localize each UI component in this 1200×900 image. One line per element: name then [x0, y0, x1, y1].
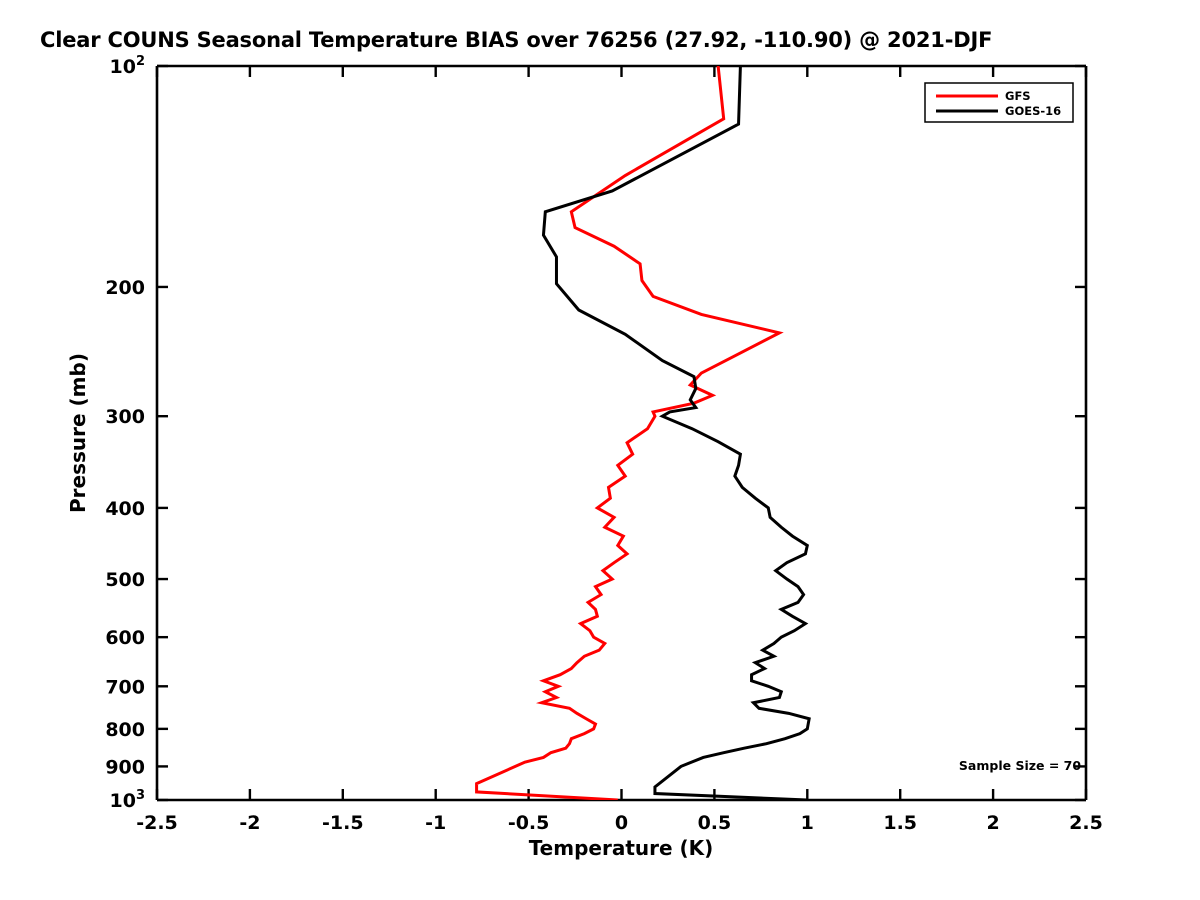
y-tick-label: 102: [110, 54, 146, 78]
legend-entry-gfs: GFS: [1005, 89, 1031, 103]
x-tick-label: 0: [615, 812, 628, 834]
axis-tick-labels: -2.5-2-1.5-1-0.500.511.522.5102200300400…: [105, 54, 1103, 834]
y-tick-label: 600: [105, 627, 145, 649]
y-tick-label: 103: [110, 788, 146, 812]
data-series: [477, 66, 810, 800]
x-tick-label: 1.5: [883, 812, 917, 834]
x-tick-label: -0.5: [508, 812, 550, 834]
x-tick-label: -1: [425, 812, 446, 834]
x-tick-label: -2.5: [136, 812, 178, 834]
legend-box: GFS GOES-16: [925, 83, 1073, 122]
axis-ticks: [157, 66, 1086, 800]
sample-size-annotation: Sample Size = 70: [959, 758, 1081, 773]
x-tick-label: 0.5: [698, 812, 732, 834]
x-axis-title: Temperature (K): [529, 836, 714, 860]
y-tick-label: 300: [105, 406, 145, 428]
y-tick-label: 800: [105, 719, 145, 741]
figure-canvas: Clear COUNS Seasonal Temperature BIAS ov…: [0, 0, 1200, 900]
chart-plot: -2.5-2-1.5-1-0.500.511.522.5102200300400…: [0, 0, 1200, 900]
y-tick-label: 700: [105, 676, 145, 698]
y-tick-label: 400: [105, 498, 145, 520]
y-tick-label: 200: [105, 277, 145, 299]
x-tick-label: 2: [986, 812, 999, 834]
y-tick-label: 500: [105, 569, 145, 591]
axes-frame: [157, 66, 1086, 800]
x-tick-label: 2.5: [1069, 812, 1103, 834]
x-tick-label: 1: [801, 812, 814, 834]
x-tick-label: -1.5: [322, 812, 364, 834]
series-line-goes-16: [543, 66, 809, 800]
y-axis-title: Pressure (mb): [66, 353, 90, 513]
x-tick-label: -2: [239, 812, 260, 834]
y-tick-label: 900: [105, 756, 145, 778]
series-line-gfs: [477, 66, 780, 800]
legend-entry-goes16: GOES-16: [1005, 104, 1061, 118]
